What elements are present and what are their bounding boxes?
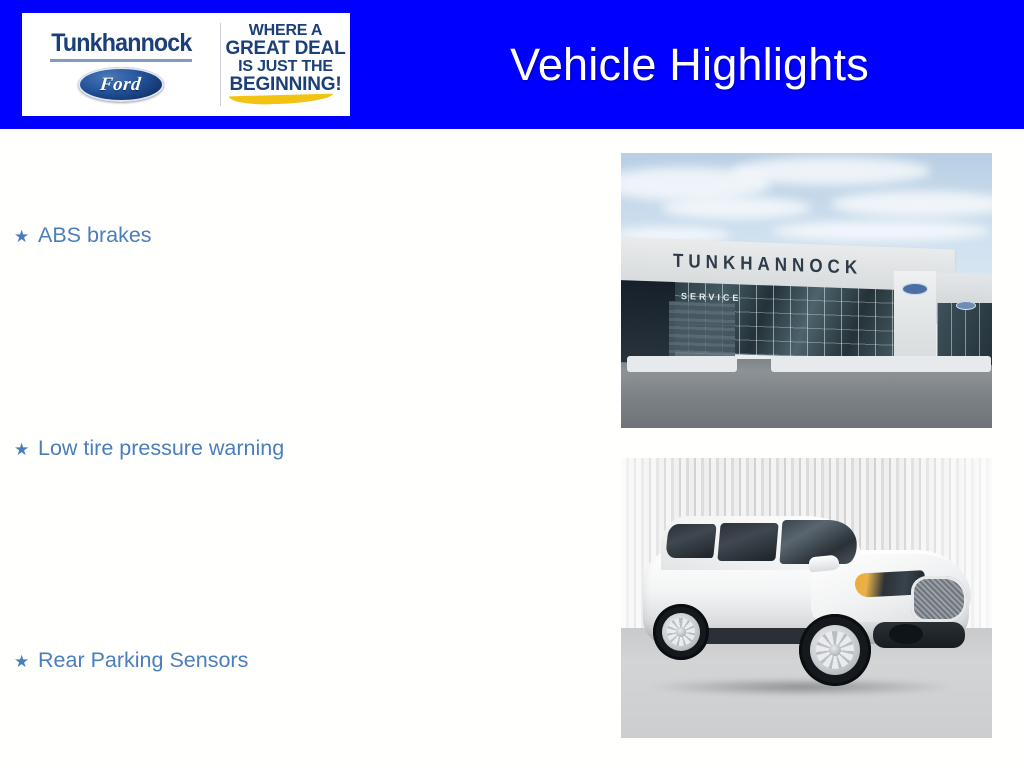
cloud-shape [731, 157, 931, 185]
vehicle-side-window [717, 523, 778, 561]
tagline-line-4: BEGINNING! [229, 75, 341, 94]
list-item: ★ ABS brakes [14, 225, 152, 247]
highlight-label: Low tire pressure warning [38, 438, 284, 460]
wheel-rim [810, 625, 860, 675]
highlight-label: ABS brakes [38, 225, 152, 247]
curb-island [907, 356, 991, 372]
vehicle-shadow [651, 678, 951, 696]
vehicle-grille [911, 576, 967, 622]
vehicle-rear-wheel [653, 604, 709, 660]
vehicle-photo [621, 458, 992, 738]
ford-oval-sign-icon [902, 283, 928, 295]
tagline-line-1: WHERE A [249, 23, 323, 39]
wheel-hub [829, 644, 841, 656]
star-bullet-icon: ★ [14, 441, 38, 458]
vehicle-fog-light [889, 624, 923, 644]
wheel-hub [676, 627, 685, 636]
page-title: Vehicle Highlights [355, 0, 1024, 129]
tagline-line-2: GREAT DEAL [225, 39, 345, 58]
tagline-swoosh-icon [228, 94, 332, 106]
list-item: ★ Low tire pressure warning [14, 438, 284, 460]
dealer-logo[interactable]: Tunkhannock Ford WHERE A GREAT DEAL IS J… [22, 13, 350, 116]
cloud-shape [771, 221, 991, 241]
cloud-shape [661, 197, 811, 219]
vehicle-illustration [643, 510, 973, 700]
logo-underline-rule [50, 59, 192, 62]
ford-oval-logo-icon: Ford [78, 67, 164, 102]
wheel-rim [662, 613, 700, 651]
star-bullet-icon: ★ [14, 228, 38, 245]
slide-header-bar: Tunkhannock Ford WHERE A GREAT DEAL IS J… [0, 0, 1024, 129]
vehicle-front-wheel [799, 614, 871, 686]
tagline-line-3: IS JUST THE [238, 59, 333, 75]
service-sign-text: SERVICE [681, 291, 741, 303]
vehicle-rear-window [665, 524, 717, 558]
dealership-photo: TUNKHANNOCK SERVICE [621, 153, 992, 428]
curb-island [627, 356, 737, 372]
list-item: ★ Rear Parking Sensors [14, 650, 248, 672]
ford-oval-sign-icon [956, 301, 976, 310]
star-bullet-icon: ★ [14, 653, 38, 670]
dealer-logo-brand: Tunkhannock Ford [22, 13, 220, 116]
dealer-name-wordmark: Tunkhannock [51, 31, 191, 56]
dealer-tagline: WHERE A GREAT DEAL IS JUST THE BEGINNING… [221, 13, 350, 116]
highlight-label: Rear Parking Sensors [38, 650, 248, 672]
cloud-shape [831, 191, 992, 217]
vehicle-highlights-list: ★ ABS brakes ★ Low tire pressure warning… [0, 129, 600, 768]
ford-logo-text: Ford [99, 74, 142, 96]
service-bay-opening [621, 280, 675, 364]
curb-island [771, 356, 921, 372]
